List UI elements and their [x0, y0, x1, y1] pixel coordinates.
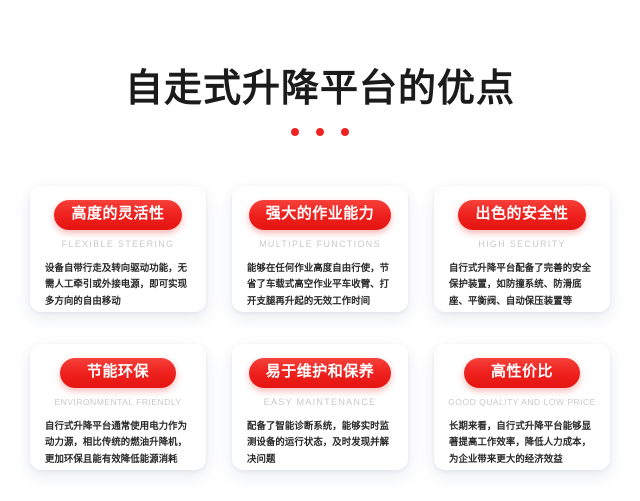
card-title-pill: 易于维护和保养: [249, 358, 392, 388]
card-body-text: 配备了智能诊断系统，能够实时监测设备的运行状态，及时发现并解决问题: [245, 418, 395, 467]
card-title-pill: 出色的安全性: [458, 200, 585, 230]
feature-card-flexible-steering[interactable]: 高度的灵活性 FLEXIBLE STEERING 设备自带行走及转向驱动功能，无…: [30, 186, 206, 312]
card-body-text: 长期来看，自行式升降平台能够显著提高工作效率，降低人力成本，为企业带来更大的经济…: [447, 418, 597, 467]
card-body-text: 自行式升降平台配备了完善的安全保护装置，如防撞系统、防滑底座、平衡阀、自动保压装…: [447, 260, 597, 309]
page-title: 自走式升降平台的优点: [0, 68, 640, 112]
feature-card-environmental-friendly[interactable]: 节能环保 ENVIRONMENTAL FRIENDLY 自行式升降平台通常使用电…: [30, 344, 206, 470]
card-subtitle: MULTIPLE FUNCTIONS: [259, 239, 381, 249]
feature-card-high-security[interactable]: 出色的安全性 HIGH SECURITY 自行式升降平台配备了完善的安全保护装置…: [434, 186, 610, 312]
card-body-text: 自行式升降平台通常使用电力作为动力源，相比传统的燃油升降机，更加环保且能有效降低…: [43, 418, 193, 467]
card-title-pill: 强大的作业能力: [249, 200, 392, 230]
title-dot-decoration: [0, 128, 640, 136]
decor-dot-icon: [291, 128, 299, 136]
decor-dot-icon: [316, 128, 324, 136]
card-subtitle: HIGH SECURITY: [478, 239, 565, 249]
card-body-text: 能够在任何作业高度自由行使，节省了车载式高空作业平车收臂、打开支腿再升起的无效工…: [245, 260, 395, 309]
card-title-pill: 高度的灵活性: [54, 200, 181, 230]
page-header: 自走式升降平台的优点: [0, 0, 640, 136]
feature-card-multiple-functions[interactable]: 强大的作业能力 MULTIPLE FUNCTIONS 能够在任何作业高度自由行使…: [232, 186, 408, 312]
card-subtitle: FLEXIBLE STEERING: [62, 239, 175, 249]
card-body-text: 设备自带行走及转向驱动功能，无需人工牵引或外接电源，即可实现多方向的自由移动: [43, 260, 193, 309]
feature-card-easy-maintenance[interactable]: 易于维护和保养 EASY MAINTENANCE 配备了智能诊断系统，能够实时监…: [232, 344, 408, 470]
card-subtitle: ENVIRONMENTAL FRIENDLY: [54, 397, 181, 407]
feature-card-good-quality-low-price[interactable]: 高性价比 GOOD QUALITY AND LOW PRICE 长期来看，自行式…: [434, 344, 610, 470]
decor-dot-icon: [341, 128, 349, 136]
card-subtitle: EASY MAINTENANCE: [264, 397, 377, 407]
card-subtitle: GOOD QUALITY AND LOW PRICE: [448, 397, 596, 407]
card-title-pill: 节能环保: [60, 358, 176, 388]
feature-card-grid: 高度的灵活性 FLEXIBLE STEERING 设备自带行走及转向驱动功能，无…: [30, 186, 610, 470]
card-title-pill: 高性价比: [464, 358, 580, 388]
